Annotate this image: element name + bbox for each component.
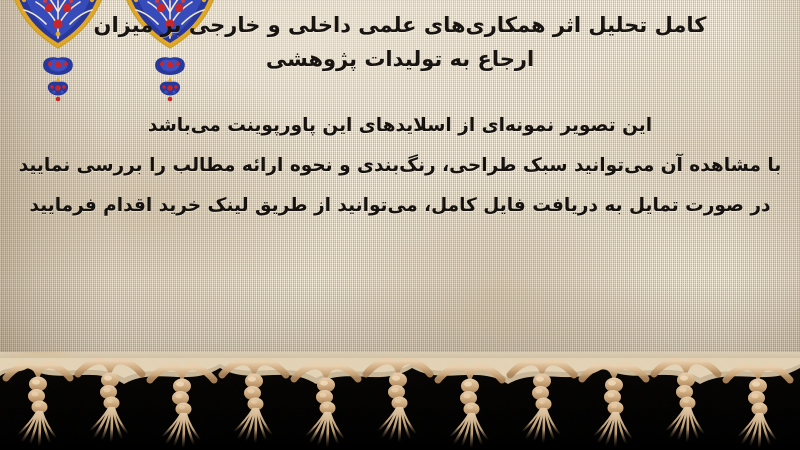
body-line-1: این تصویر نمونه‌ای از اسلایدهای این پاور… <box>10 106 790 146</box>
carpet-fringe <box>0 358 800 450</box>
body-line-2: با مشاهده آن می‌توانید سبک طراحی، رنگ‌بن… <box>10 146 790 186</box>
title-line-1: کامل تحلیل اثر همکاری‌های علمی داخلی و خ… <box>20 8 780 42</box>
slide-title: کامل تحلیل اثر همکاری‌های علمی داخلی و خ… <box>20 8 780 76</box>
slide-canvas: کامل تحلیل اثر همکاری‌های علمی داخلی و خ… <box>0 0 800 450</box>
slide-body: این تصویر نمونه‌ای از اسلایدهای این پاور… <box>10 106 790 226</box>
title-line-2: ارجاع به تولیدات پژوهشی <box>20 42 780 76</box>
body-line-3: در صورت تمایل به دریافت فایل کامل، می‌تو… <box>10 186 790 226</box>
slide-text-layer: کامل تحلیل اثر همکاری‌های علمی داخلی و خ… <box>0 0 800 372</box>
